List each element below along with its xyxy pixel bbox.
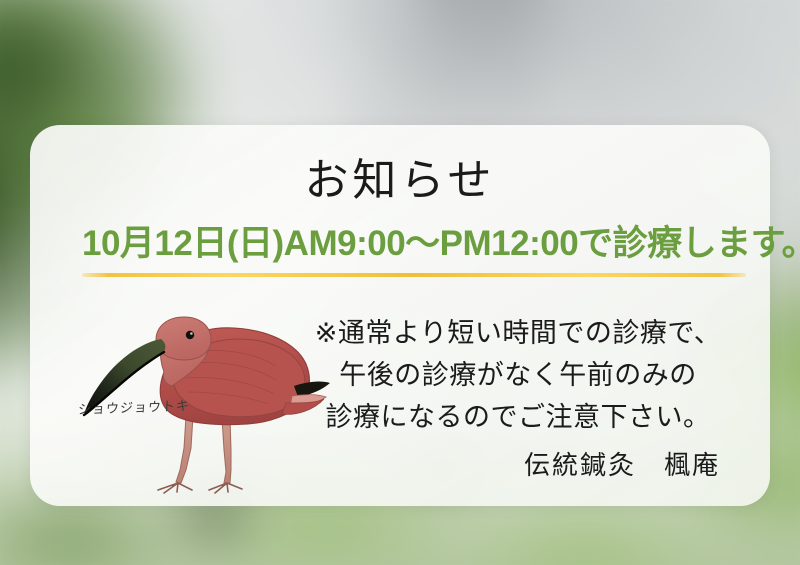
headline-block: 10月12日(日)AM9:00〜PM12:00で診療します。 (82, 225, 746, 277)
ibis-legs (176, 416, 231, 483)
notice-body: ※通常より短い時間での診療で、 午後の診療がなく午前のみの 診療になるのでご注意… (308, 313, 728, 439)
ibis-eye (186, 331, 194, 339)
headline-underline-divider (82, 273, 746, 277)
page-title: お知らせ (30, 159, 770, 203)
ibis-feet (158, 483, 242, 493)
notice-card: お知らせ 10月12日(日)AM9:00〜PM12:00で診療します。 ※通常よ… (30, 125, 770, 506)
greenhouse-beam (413, 0, 543, 134)
clinic-signature: 伝統鍼灸 楓庵 (524, 445, 720, 482)
notice-body-line-2: 午後の診療がなく午前のみの (308, 355, 728, 397)
schedule-headline: 10月12日(日)AM9:00〜PM12:00で診療します。 (82, 225, 746, 264)
ibis-eye-highlight (190, 332, 193, 335)
notice-body-line-1: ※通常より短い時間での診療で、 (308, 313, 728, 355)
notice-poster: お知らせ 10月12日(日)AM9:00〜PM12:00で診療します。 ※通常よ… (0, 0, 800, 565)
ibis-label: ショウジョウトキ (77, 395, 190, 418)
notice-body-line-3: 診療になるのでご注意下さい。 (308, 397, 728, 439)
ibis-head (156, 317, 211, 360)
